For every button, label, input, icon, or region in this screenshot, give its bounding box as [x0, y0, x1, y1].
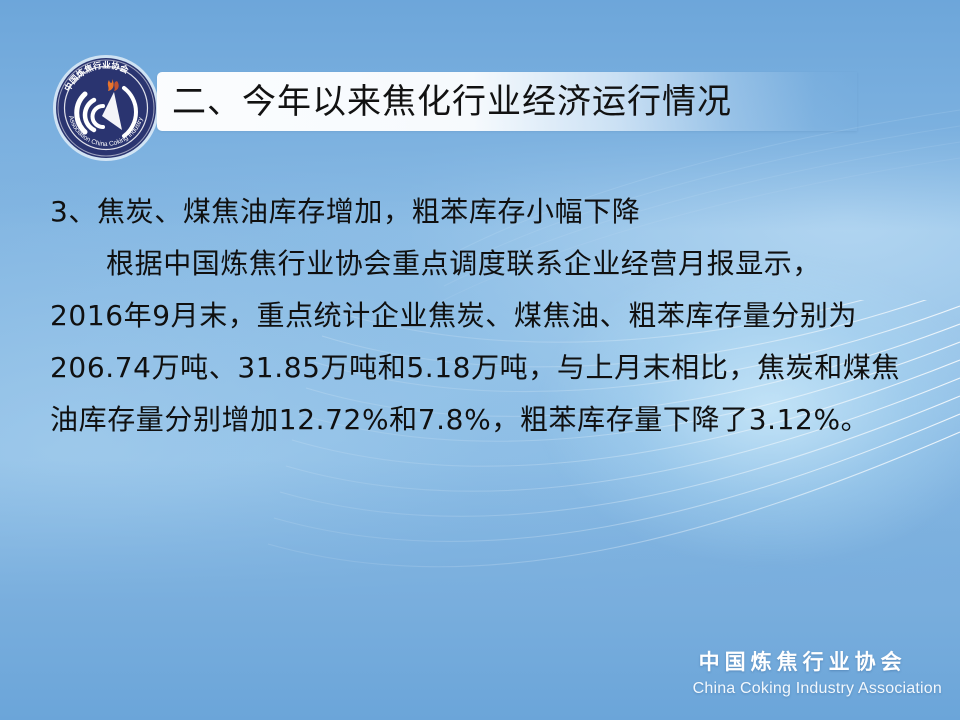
body-line-2: 2016年9月末，重点统计企业焦炭、煤焦油、粗苯库存量分别为: [50, 290, 930, 342]
association-logo-icon: 中国炼焦行业协会 Association China Coking Indust…: [52, 54, 160, 162]
slide-body: 3、焦炭、煤焦油库存增加，粗苯库存小幅下降 根据中国炼焦行业协会重点调度联系企业…: [50, 186, 930, 446]
footer-name-cn: 中国炼焦行业协会: [693, 646, 942, 676]
body-line-4: 油库存量分别增加12.72%和7.8%，粗苯库存量下降了3.12%。: [50, 394, 930, 446]
body-line-3: 206.74万吨、31.85万吨和5.18万吨，与上月末相比，焦炭和煤焦: [50, 342, 930, 394]
slide-title: 二、今年以来焦化行业经济运行情况: [172, 74, 732, 130]
footer-branding: 中国炼焦行业协会 China Coking Industry Associati…: [693, 646, 942, 698]
body-heading: 3、焦炭、煤焦油库存增加，粗苯库存小幅下降: [50, 186, 930, 238]
footer-name-en: China Coking Industry Association: [693, 680, 942, 698]
presentation-slide: 中国炼焦行业协会 Association China Coking Indust…: [0, 0, 960, 720]
body-line-1: 根据中国炼焦行业协会重点调度联系企业经营月报显示，: [50, 238, 930, 290]
